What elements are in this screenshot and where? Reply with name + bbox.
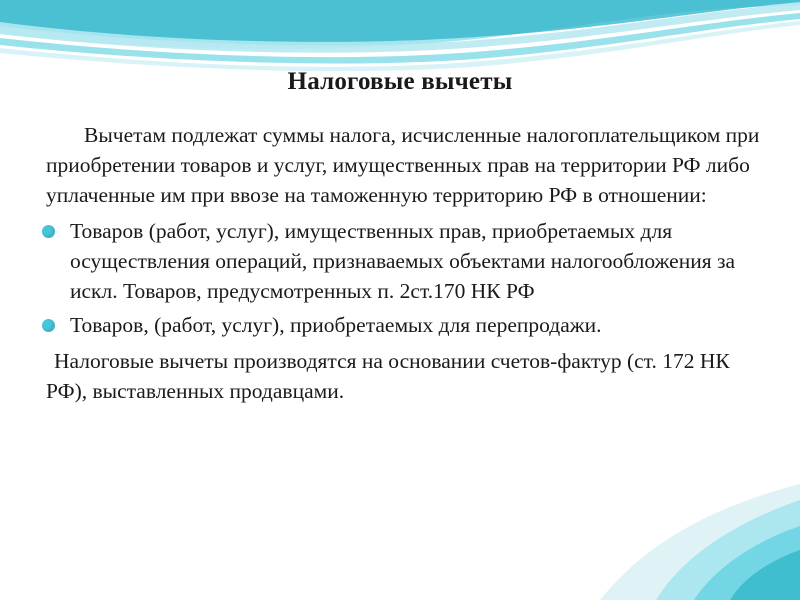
list-item: Товаров (работ, услуг), имущественных пр… [28, 216, 772, 306]
intro-paragraph: Вычетам подлежат суммы налога, исчисленн… [28, 120, 772, 210]
bullet-dot-icon [42, 225, 55, 238]
slide: Налоговые вычеты Вычетам подлежат суммы … [0, 0, 800, 600]
slide-body: Вычетам подлежат суммы налога, исчисленн… [28, 120, 772, 406]
list-item-text: Товаров (работ, услуг), имущественных пр… [70, 219, 735, 303]
wave-ribbon-bottom-icon [0, 480, 800, 600]
slide-title: Налоговые вычеты [0, 68, 800, 96]
bullet-dot-icon [42, 319, 55, 332]
list-item-text: Товаров, (работ, услуг), приобретаемых д… [70, 313, 602, 337]
list-item: Товаров, (работ, услуг), приобретаемых д… [28, 310, 772, 340]
bullet-list: Товаров (работ, услуг), имущественных пр… [28, 216, 772, 340]
closing-paragraph: Налоговые вычеты производятся на основан… [28, 346, 772, 406]
